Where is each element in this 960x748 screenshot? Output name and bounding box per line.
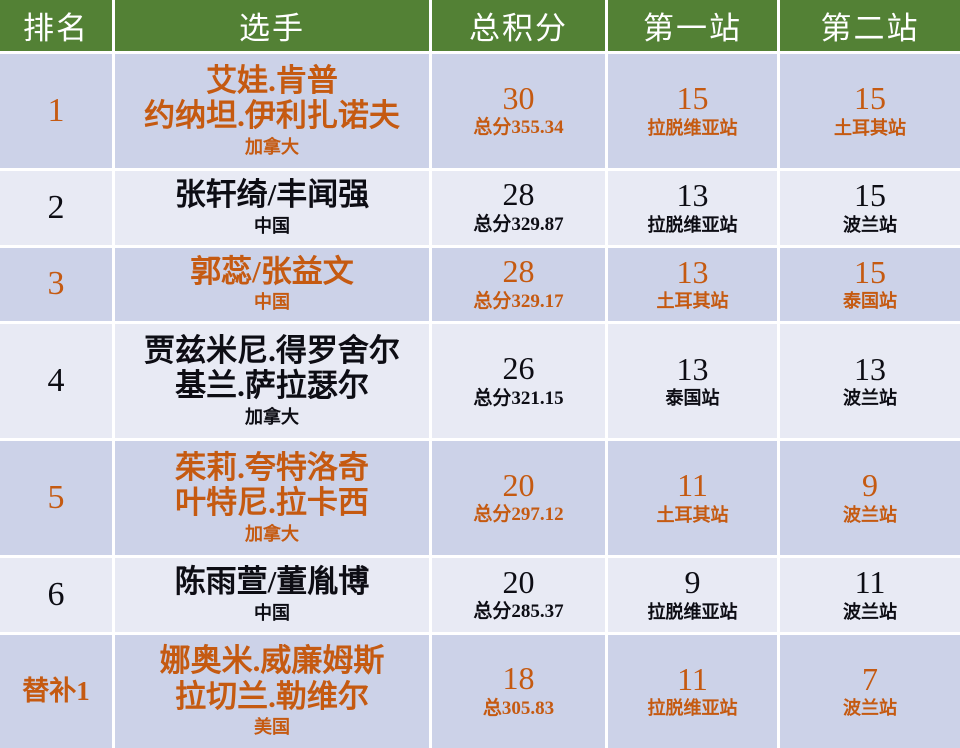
total-points-value: 28 xyxy=(436,255,601,289)
leg2-cell: 11波兰站 xyxy=(780,558,960,635)
total-points-cell: 28总分329.17 xyxy=(432,248,608,325)
table-row: 5茱莉.夸特洛奇叶特尼.拉卡西加拿大20总分297.1211土耳其站9波兰站 xyxy=(0,441,960,558)
table-row: 1艾娃.肯普约纳坦.伊利扎诺夫加拿大30总分355.3415拉脱维亚站15土耳其… xyxy=(0,54,960,171)
rank-value: 替补1 xyxy=(22,676,90,706)
table-row: 2张轩绮/丰闻强中国28总分329.8713拉脱维亚站15波兰站 xyxy=(0,171,960,248)
total-score-label: 总分285.37 xyxy=(436,600,601,624)
total-points-value: 18 xyxy=(436,662,601,696)
table-row: 3郭蕊/张益文中国28总分329.1713土耳其站15泰国站 xyxy=(0,248,960,325)
total-points-value: 26 xyxy=(436,352,601,386)
player-names: 张轩绮/丰闻强 xyxy=(119,177,425,212)
table-header: 排名 选手 总积分 第一站 第二站 xyxy=(0,0,960,54)
rank-cell: 6 xyxy=(0,558,115,635)
player-name: 基兰.萨拉瑟尔 xyxy=(119,368,425,403)
leg2-points-value: 9 xyxy=(784,469,956,503)
leg1-points-value: 15 xyxy=(612,82,773,116)
header-row: 排名 选手 总积分 第一站 第二站 xyxy=(0,0,960,54)
player-names: 娜奥米.威廉姆斯拉切兰.勒维尔 xyxy=(119,643,425,714)
leg1-points-value: 11 xyxy=(612,663,773,697)
player-name: 茱莉.夸特洛奇 xyxy=(119,450,425,485)
leg1-points-value: 13 xyxy=(612,353,773,387)
player-name: 艾娃.肯普 xyxy=(119,63,425,98)
rank-value: 3 xyxy=(48,265,65,302)
rank-cell: 2 xyxy=(0,171,115,248)
leg1-event-label: 拉脱维亚站 xyxy=(612,601,773,624)
player-cell: 张轩绮/丰闻强中国 xyxy=(115,171,432,248)
player-country: 中国 xyxy=(119,291,425,314)
column-header-total: 总积分 xyxy=(432,0,608,54)
column-header-leg1: 第一站 xyxy=(608,0,780,54)
player-cell: 娜奥米.威廉姆斯拉切兰.勒维尔美国 xyxy=(115,635,432,748)
player-name: 贾兹米尼.得罗舍尔 xyxy=(119,333,425,368)
ranking-table: 排名 选手 总积分 第一站 第二站 1艾娃.肯普约纳坦.伊利扎诺夫加拿大30总分… xyxy=(0,0,960,748)
column-header-leg2: 第二站 xyxy=(780,0,960,54)
leg1-cell: 11拉脱维亚站 xyxy=(608,635,780,748)
leg2-event-label: 波兰站 xyxy=(784,697,956,720)
total-points-value: 20 xyxy=(436,469,601,503)
leg2-event-label: 波兰站 xyxy=(784,387,956,410)
leg2-event-label: 波兰站 xyxy=(784,601,956,624)
total-points-cell: 26总分321.15 xyxy=(432,324,608,441)
rank-value: 6 xyxy=(48,576,65,613)
rank-value: 4 xyxy=(48,362,65,399)
leg1-cell: 13泰国站 xyxy=(608,324,780,441)
leg1-event-label: 拉脱维亚站 xyxy=(612,697,773,720)
player-country: 加拿大 xyxy=(119,523,425,546)
player-names: 茱莉.夸特洛奇叶特尼.拉卡西 xyxy=(119,450,425,521)
total-points-value: 20 xyxy=(436,566,601,600)
total-score-label: 总分329.87 xyxy=(436,213,601,237)
leg2-cell: 15泰国站 xyxy=(780,248,960,325)
total-score-label: 总分329.17 xyxy=(436,290,601,314)
total-score-label: 总分297.12 xyxy=(436,503,601,527)
player-cell: 茱莉.夸特洛奇叶特尼.拉卡西加拿大 xyxy=(115,441,432,558)
leg1-event-label: 土耳其站 xyxy=(612,290,773,313)
leg2-points-value: 15 xyxy=(784,256,956,290)
leg2-points-value: 15 xyxy=(784,179,956,213)
player-cell: 郭蕊/张益文中国 xyxy=(115,248,432,325)
player-names: 贾兹米尼.得罗舍尔基兰.萨拉瑟尔 xyxy=(119,333,425,404)
rank-cell: 4 xyxy=(0,324,115,441)
leg1-points-value: 9 xyxy=(612,566,773,600)
player-name: 郭蕊/张益文 xyxy=(119,254,425,289)
player-names: 艾娃.肯普约纳坦.伊利扎诺夫 xyxy=(119,63,425,134)
rank-value: 2 xyxy=(48,189,65,226)
player-country: 中国 xyxy=(119,215,425,238)
player-names: 陈雨萱/董胤博 xyxy=(119,564,425,599)
leg1-cell: 9拉脱维亚站 xyxy=(608,558,780,635)
total-points-cell: 20总分297.12 xyxy=(432,441,608,558)
leg2-cell: 7波兰站 xyxy=(780,635,960,748)
player-country: 中国 xyxy=(119,602,425,625)
player-name: 陈雨萱/董胤博 xyxy=(119,564,425,599)
leg2-points-value: 15 xyxy=(784,82,956,116)
leg1-points-value: 13 xyxy=(612,256,773,290)
leg2-cell: 9波兰站 xyxy=(780,441,960,558)
leg2-points-value: 13 xyxy=(784,353,956,387)
player-name: 张轩绮/丰闻强 xyxy=(119,177,425,212)
leg2-event-label: 土耳其站 xyxy=(784,117,956,140)
leg2-points-value: 7 xyxy=(784,663,956,697)
rank-cell: 5 xyxy=(0,441,115,558)
total-score-label: 总分321.15 xyxy=(436,387,601,411)
leg2-event-label: 波兰站 xyxy=(784,214,956,237)
leg2-points-value: 11 xyxy=(784,566,956,600)
player-names: 郭蕊/张益文 xyxy=(119,254,425,289)
leg2-cell: 13波兰站 xyxy=(780,324,960,441)
table-row: 替补1娜奥米.威廉姆斯拉切兰.勒维尔美国18总305.8311拉脱维亚站7波兰站 xyxy=(0,635,960,748)
player-name: 叶特尼.拉卡西 xyxy=(119,485,425,520)
leg1-cell: 11土耳其站 xyxy=(608,441,780,558)
total-score-label: 总305.83 xyxy=(436,697,601,721)
player-country: 美国 xyxy=(119,716,425,739)
table-row: 6陈雨萱/董胤博中国20总分285.379拉脱维亚站11波兰站 xyxy=(0,558,960,635)
rank-value: 5 xyxy=(48,479,65,516)
total-points-value: 28 xyxy=(436,178,601,212)
column-header-rank: 排名 xyxy=(0,0,115,54)
total-points-value: 30 xyxy=(436,82,601,116)
leg1-cell: 15拉脱维亚站 xyxy=(608,54,780,171)
leg1-cell: 13拉脱维亚站 xyxy=(608,171,780,248)
player-name: 娜奥米.威廉姆斯 xyxy=(119,643,425,678)
player-cell: 陈雨萱/董胤博中国 xyxy=(115,558,432,635)
player-cell: 艾娃.肯普约纳坦.伊利扎诺夫加拿大 xyxy=(115,54,432,171)
total-points-cell: 30总分355.34 xyxy=(432,54,608,171)
leg1-event-label: 拉脱维亚站 xyxy=(612,117,773,140)
leg1-event-label: 拉脱维亚站 xyxy=(612,214,773,237)
player-name: 拉切兰.勒维尔 xyxy=(119,679,425,714)
leg1-points-value: 11 xyxy=(612,469,773,503)
leg2-event-label: 波兰站 xyxy=(784,504,956,527)
rank-cell: 3 xyxy=(0,248,115,325)
leg2-cell: 15土耳其站 xyxy=(780,54,960,171)
table-body: 1艾娃.肯普约纳坦.伊利扎诺夫加拿大30总分355.3415拉脱维亚站15土耳其… xyxy=(0,54,960,748)
leg1-points-value: 13 xyxy=(612,179,773,213)
leg2-cell: 15波兰站 xyxy=(780,171,960,248)
total-score-label: 总分355.34 xyxy=(436,116,601,140)
player-name: 约纳坦.伊利扎诺夫 xyxy=(119,98,425,133)
rank-cell: 替补1 xyxy=(0,635,115,748)
table-row: 4贾兹米尼.得罗舍尔基兰.萨拉瑟尔加拿大26总分321.1513泰国站13波兰站 xyxy=(0,324,960,441)
total-points-cell: 18总305.83 xyxy=(432,635,608,748)
leg1-event-label: 泰国站 xyxy=(612,387,773,410)
total-points-cell: 20总分285.37 xyxy=(432,558,608,635)
total-points-cell: 28总分329.87 xyxy=(432,171,608,248)
rank-value: 1 xyxy=(48,92,65,129)
leg2-event-label: 泰国站 xyxy=(784,290,956,313)
player-country: 加拿大 xyxy=(119,136,425,159)
column-header-player: 选手 xyxy=(115,0,432,54)
player-country: 加拿大 xyxy=(119,406,425,429)
rank-cell: 1 xyxy=(0,54,115,171)
player-cell: 贾兹米尼.得罗舍尔基兰.萨拉瑟尔加拿大 xyxy=(115,324,432,441)
leg1-cell: 13土耳其站 xyxy=(608,248,780,325)
leg1-event-label: 土耳其站 xyxy=(612,504,773,527)
